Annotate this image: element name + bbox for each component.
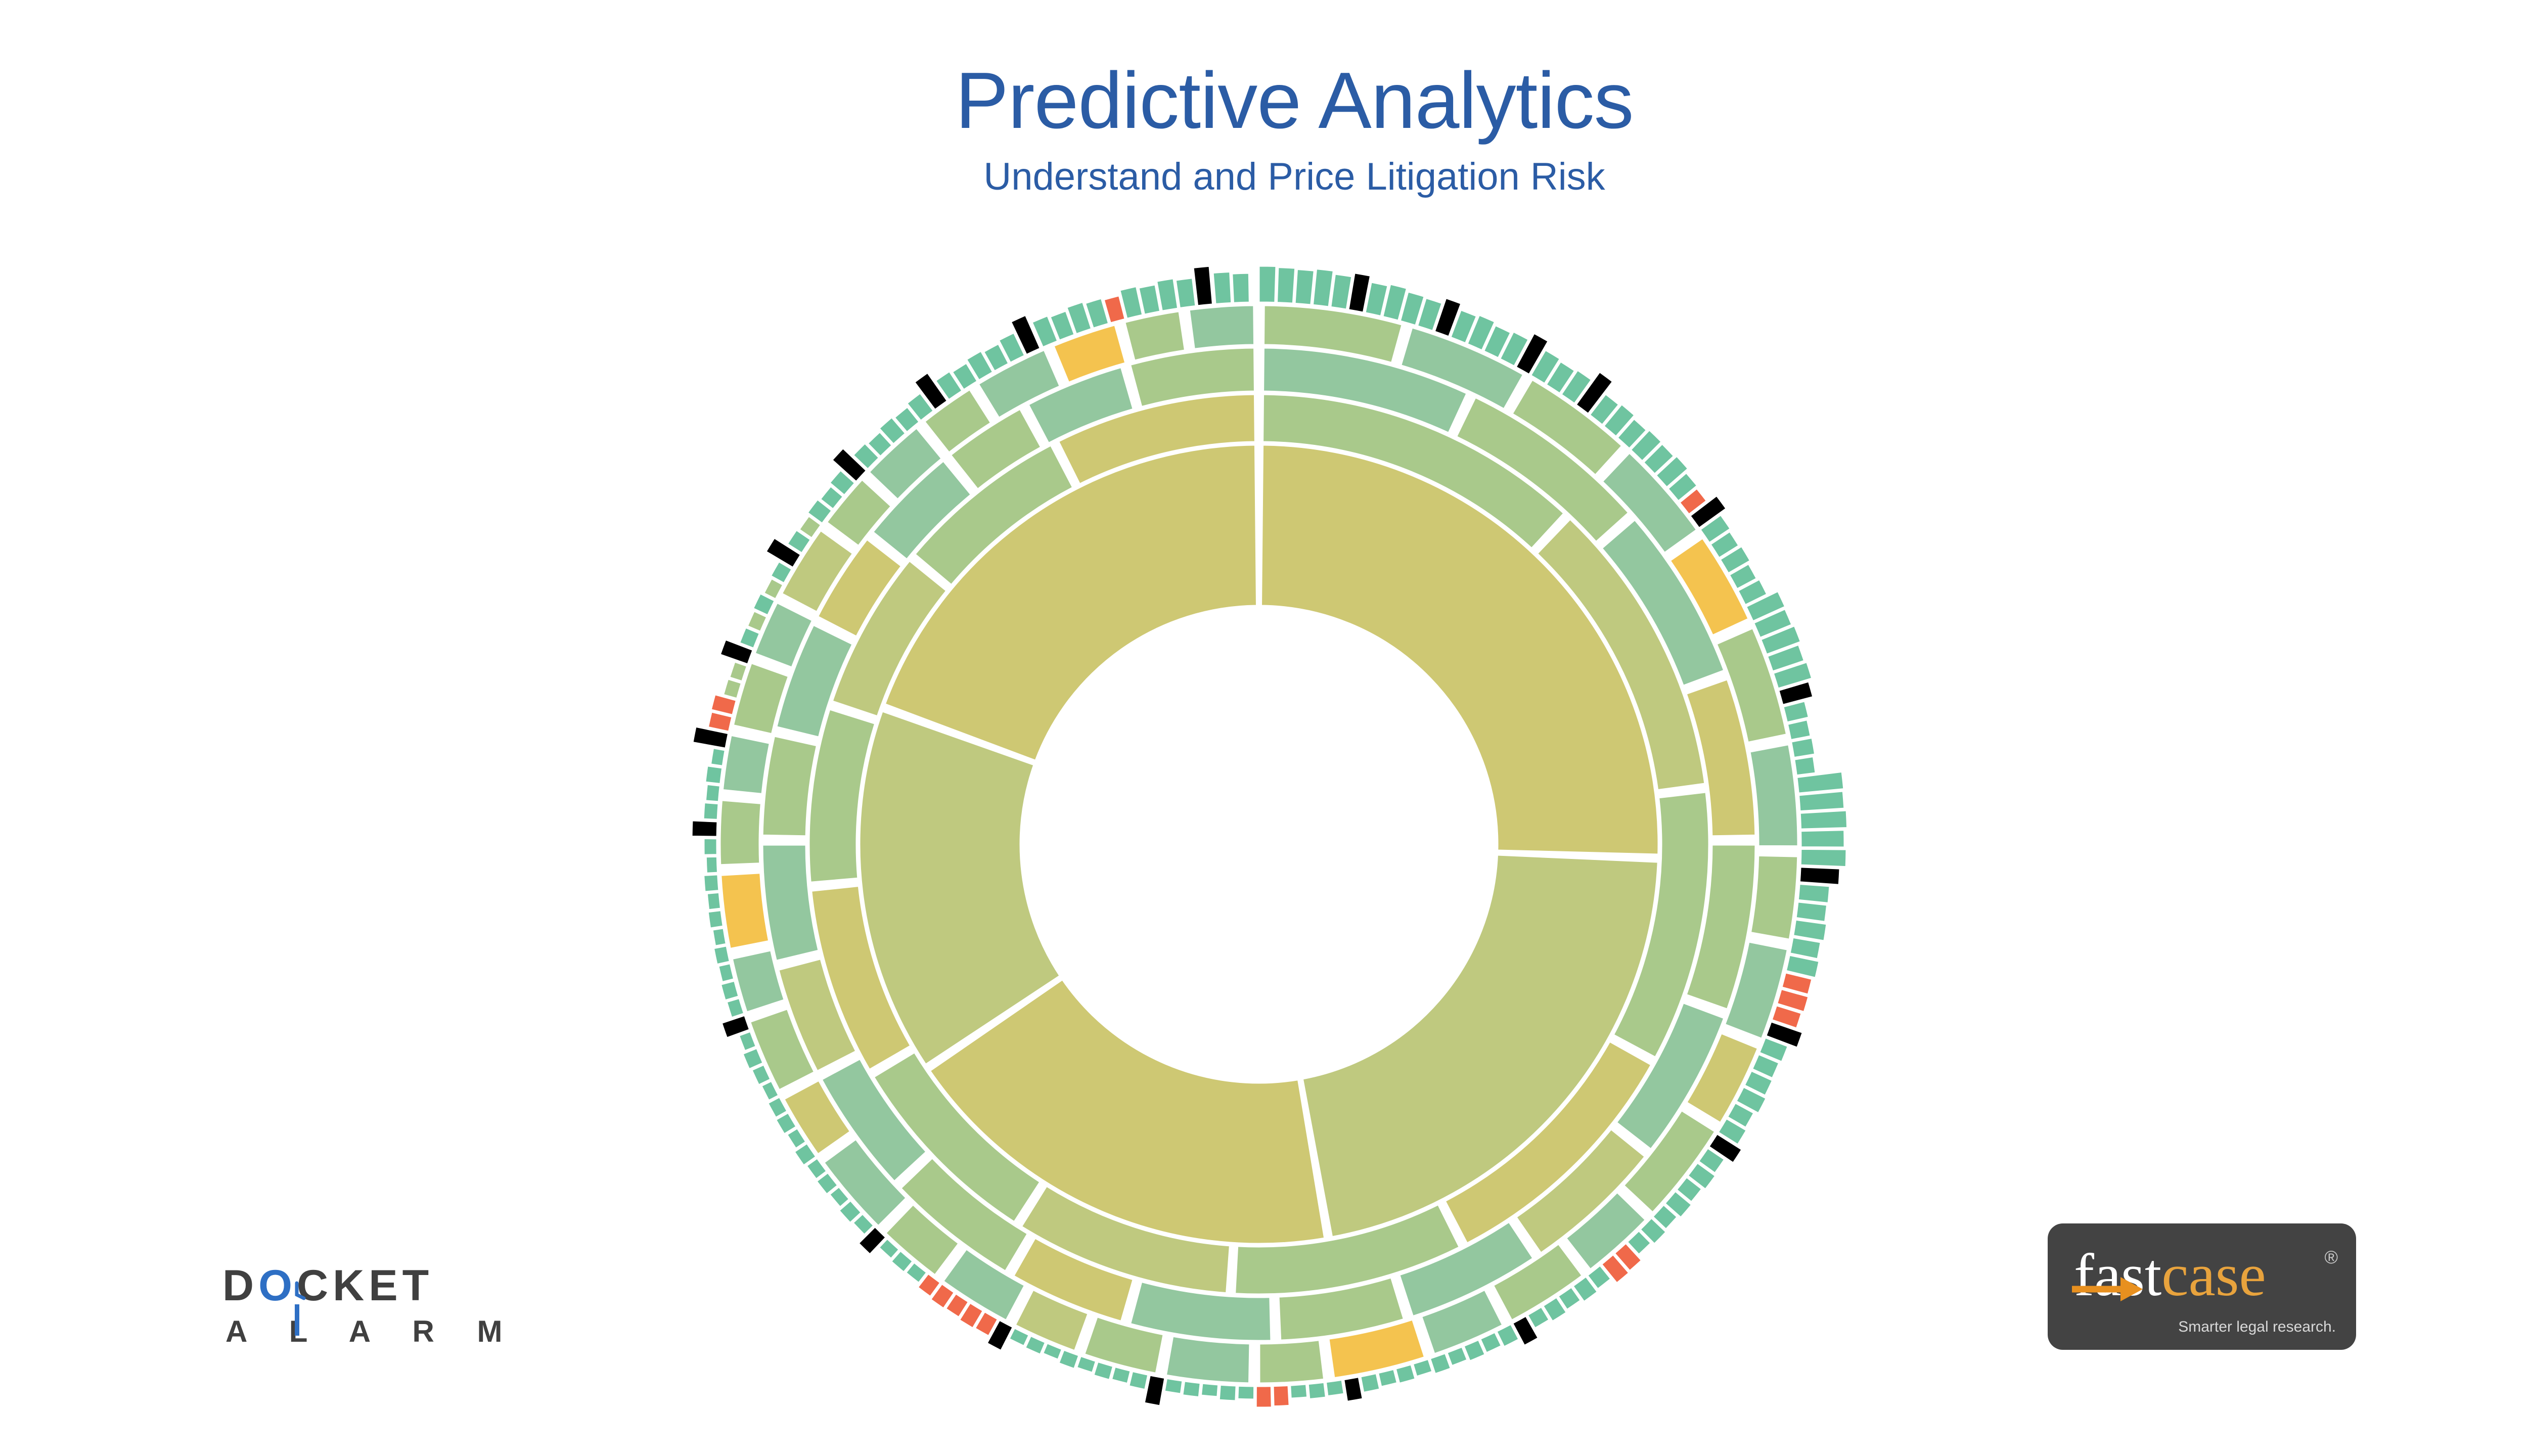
sunburst-outer-bar[interactable] — [718, 964, 734, 982]
sunburst-outer-bar[interactable] — [705, 766, 723, 784]
page-subtitle: Understand and Price Litigation Risk — [0, 158, 2528, 196]
fastcase-case: case — [2161, 1241, 2266, 1308]
sunburst-outer-bar[interactable] — [739, 1031, 756, 1051]
sunburst-outer-bar[interactable] — [1799, 867, 1840, 885]
sunburst-outer-bar[interactable] — [1796, 902, 1827, 922]
sunburst-outer-bar[interactable] — [1344, 1377, 1363, 1402]
sunburst-ring-1[interactable] — [860, 445, 1658, 1244]
sunburst-segment-ring4[interactable] — [720, 800, 761, 865]
sunburst-outer-bar[interactable] — [1378, 1369, 1397, 1387]
sunburst-segment-ring3[interactable] — [762, 736, 817, 836]
sunburst-outer-bar[interactable] — [1238, 1386, 1254, 1399]
sunburst-outer-bar[interactable] — [1308, 1382, 1326, 1399]
page-title: Predictive Analytics — [0, 61, 2528, 141]
sunburst-outer-bar[interactable] — [1800, 849, 1846, 867]
sunburst-outer-bar[interactable] — [703, 803, 718, 820]
sunburst-outer-bar[interactable] — [1313, 269, 1333, 307]
docket-alarm-wordmark: DOCKET — [222, 1264, 536, 1307]
sunburst-outer-bar[interactable] — [1193, 266, 1212, 306]
sunburst-outer-bar[interactable] — [1413, 1359, 1432, 1376]
sunburst-outer-bar[interactable] — [1176, 278, 1196, 308]
sunburst-segment-ring4[interactable] — [723, 735, 770, 794]
sunburst-outer-bar[interactable] — [1794, 756, 1816, 775]
sunburst-outer-bar[interactable] — [1798, 884, 1830, 903]
docket-alarm-d: D — [222, 1261, 258, 1310]
title-block: Predictive Analytics Understand and Pric… — [0, 61, 2528, 196]
sunburst-outer-bar[interactable] — [1259, 266, 1276, 302]
sunburst-outer-bar[interactable] — [1800, 810, 1847, 829]
sunburst-segment-ring4[interactable] — [1189, 305, 1254, 349]
fastcase-logo[interactable]: fastcase ® Smarter legal research. — [2048, 1223, 2356, 1350]
fastcase-tagline: Smarter legal research. — [2178, 1318, 2336, 1336]
arrow-icon — [2070, 1272, 2146, 1310]
sunburst-outer-bar[interactable] — [1183, 1381, 1200, 1397]
sunburst-outer-bar[interactable] — [1395, 1364, 1415, 1384]
sunburst-outer-bar[interactable] — [727, 998, 744, 1017]
sunburst-outer-bar[interactable] — [708, 911, 723, 928]
sunburst-outer-bar[interactable] — [1232, 273, 1250, 303]
sunburst-outer-bar[interactable] — [1213, 271, 1232, 304]
sunburst-svg[interactable] — [672, 253, 1850, 1431]
sunburst-outer-bar[interactable] — [1277, 267, 1295, 303]
sunburst-outer-bar[interactable] — [730, 662, 747, 681]
sunburst-outer-bar[interactable] — [704, 839, 717, 855]
sunburst-outer-bar[interactable] — [1290, 1384, 1307, 1398]
docket-alarm-cket: CKET — [297, 1261, 433, 1310]
sunburst-outer-bar[interactable] — [1164, 1378, 1183, 1394]
sunburst-outer-bar[interactable] — [705, 784, 720, 801]
sunburst-outer-bar[interactable] — [1256, 1386, 1272, 1407]
sunburst-outer-bar[interactable] — [1025, 1336, 1046, 1354]
docket-alarm-alarm: A L A R M — [225, 1316, 536, 1347]
sunburst-segment-ring4[interactable] — [1750, 855, 1797, 939]
sunburst-outer-bar[interactable] — [721, 981, 739, 1000]
slide-canvas: Predictive Analytics Understand and Pric… — [0, 0, 2528, 1456]
sunburst-outer-bar[interactable] — [1111, 1367, 1131, 1384]
sunburst-segment-ring4[interactable] — [1259, 1340, 1324, 1383]
sunburst-outer-bar[interactable] — [1326, 1380, 1344, 1396]
sunburst-outer-bar[interactable] — [1791, 738, 1815, 757]
sunburst-outer-bar[interactable] — [1801, 830, 1844, 847]
sunburst-outer-bar[interactable] — [710, 748, 725, 766]
docket-alarm-logo[interactable]: DOCKET A L A R M — [222, 1264, 536, 1365]
sunburst-outer-bar[interactable] — [1129, 1371, 1148, 1389]
sunburst-segment-ring4[interactable] — [1166, 1336, 1250, 1383]
registered-trademark-icon: ® — [2324, 1247, 2338, 1268]
sunburst-outer-bar[interactable] — [704, 875, 719, 892]
sunburst-outer-bar[interactable] — [1219, 1385, 1236, 1401]
sunburst-outer-bar[interactable] — [1447, 1347, 1467, 1366]
sunburst-outer-bar[interactable] — [1787, 720, 1811, 740]
sunburst-outer-bar[interactable] — [707, 892, 720, 909]
sunburst-outer-bar[interactable] — [1094, 1362, 1113, 1380]
sunburst-outer-bar[interactable] — [1201, 1383, 1218, 1397]
sunburst-outer-bar[interactable] — [1295, 269, 1314, 305]
sunburst-outer-bar[interactable] — [712, 928, 726, 946]
sunburst-outer-bar[interactable] — [1799, 791, 1844, 811]
sunburst-chart[interactable] — [672, 253, 1850, 1431]
sunburst-outer-bar[interactable] — [692, 821, 717, 837]
sunburst-outer-bar[interactable] — [1361, 1374, 1380, 1393]
sunburst-segment-ring4[interactable] — [721, 873, 769, 949]
sunburst-outer-bar[interactable] — [1077, 1356, 1096, 1373]
sunburst-segment-ring4[interactable] — [1750, 745, 1798, 846]
sunburst-outer-bar[interactable] — [708, 712, 732, 732]
sunburst-segment-ring4[interactable] — [1125, 311, 1185, 360]
sunburst-outer-bar[interactable] — [724, 679, 742, 699]
sunburst-outer-bar[interactable] — [1059, 1350, 1079, 1369]
sunburst-outer-bar[interactable] — [1273, 1385, 1289, 1406]
sunburst-outer-bar[interactable] — [706, 856, 717, 873]
sunburst-outer-bar[interactable] — [713, 946, 730, 965]
